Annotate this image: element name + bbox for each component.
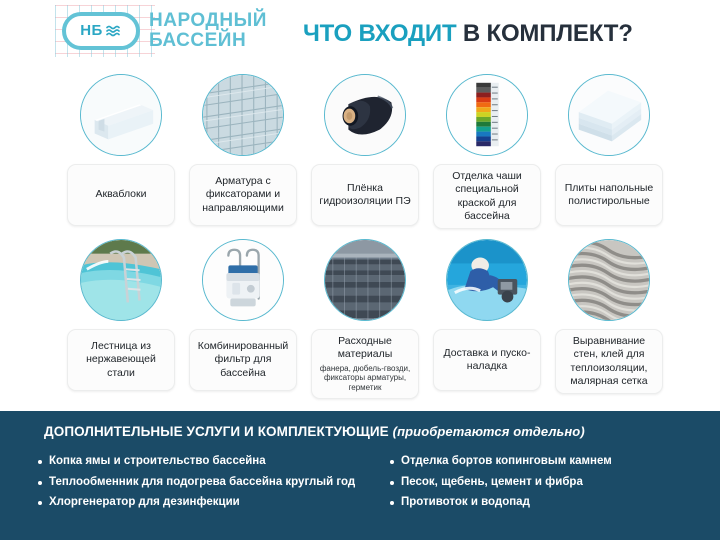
aquablock-icon: [80, 74, 162, 156]
band-column-right: Отделка бортов копинговым камнем Песок, …: [368, 456, 698, 518]
installer-icon: [446, 239, 528, 321]
materials-icon: [324, 239, 406, 321]
item-pool-paint[interactable]: Отделка чаши специальной краской для бас…: [426, 74, 548, 229]
pool-ladder-icon: [80, 239, 162, 321]
item-title: Акваблоки: [96, 188, 147, 201]
item-consumables[interactable]: Расходные материалы фанера, дюбель-гвозд…: [304, 239, 426, 399]
list-item-label: Хлоргенератор для дезинфекции: [49, 497, 240, 509]
list-item-label: Копка ямы и строительство бассейна: [49, 456, 266, 468]
item-card: Плёнка гидроизоляции ПЭ: [311, 164, 419, 226]
item-card: Лестница из нержавеющей стали: [67, 329, 175, 391]
item-title: Плиты напольные полистирольные: [560, 182, 658, 209]
film-roll-icon: [324, 74, 406, 156]
item-card: Комбинированный фильтр для бассейна: [189, 329, 297, 391]
items-row-1: Акваблоки Арматура с фиксатора: [60, 74, 670, 229]
wave-icon: [106, 24, 122, 38]
brand-logo[interactable]: НБ НАРОДНЫЙ БАССЕЙН: [62, 11, 267, 50]
item-title: Арматура с фиксаторами и направляющими: [194, 175, 292, 215]
list-item-label: Противоток и водопад: [401, 497, 530, 509]
header: НБ НАРОДНЫЙ БАССЕЙН ЧТО ВХОДИТ В КОМПЛЕК…: [0, 0, 720, 66]
brand-name-line2: БАССЕЙН: [149, 31, 267, 50]
foam-boards-icon: [568, 74, 650, 156]
item-card: Доставка и пуско-наладка: [433, 329, 541, 391]
item-aquablocks[interactable]: Акваблоки: [60, 74, 182, 229]
band-title-main: ДОПОЛНИТЕЛЬНЫЕ УСЛУГИ И КОМПЛЕКТУЮЩИЕ: [44, 424, 389, 439]
item-delivery[interactable]: Доставка и пуско-наладка: [426, 239, 548, 399]
brand-name: НАРОДНЫЙ БАССЕЙН: [149, 11, 267, 50]
list-item: Противоток и водопад: [390, 497, 698, 509]
list-item-label: Отделка бортов копинговым камнем: [401, 456, 612, 468]
item-ladder[interactable]: Лестница из нержавеющей стали: [60, 239, 182, 399]
item-wall-leveling[interactable]: Выравнивание стен, клей для теплоизоляци…: [548, 239, 670, 399]
item-title: Комбинированный фильтр для бассейна: [194, 340, 292, 380]
list-item: Отделка бортов копинговым камнем: [390, 456, 698, 468]
item-card: Выравнивание стен, клей для теплоизоляци…: [555, 329, 663, 394]
extra-services-band: ДОПОЛНИТЕЛЬНЫЕ УСЛУГИ И КОМПЛЕКТУЮЩИЕ (п…: [0, 411, 720, 540]
band-title-note: (приобретаются отдельно): [393, 424, 585, 439]
item-title: Лестница из нержавеющей стали: [72, 340, 170, 380]
items-row-2: Лестница из нержавеющей стали: [60, 239, 670, 399]
band-columns: Копка ямы и строительство бассейна Тепло…: [38, 456, 698, 518]
page-title-part2: В КОМПЛЕКТ?: [463, 20, 633, 47]
logo-letters: НБ: [80, 23, 103, 38]
item-waterproof-film[interactable]: Плёнка гидроизоляции ПЭ: [304, 74, 426, 229]
list-item: Песок, щебень, цемент и фибра: [390, 477, 698, 489]
item-title: Доставка и пуско-наладка: [438, 347, 536, 374]
list-item: Копка ямы и строительство бассейна: [38, 456, 368, 468]
item-title: Расходные материалы: [316, 335, 414, 362]
paint-swatch-icon: [446, 74, 528, 156]
band-title: ДОПОЛНИТЕЛЬНЫЕ УСЛУГИ И КОМПЛЕКТУЮЩИЕ (п…: [44, 424, 585, 439]
item-floor-boards[interactable]: Плиты напольные полистирольные: [548, 74, 670, 229]
item-rebar[interactable]: Арматура с фиксаторами и направляющими: [182, 74, 304, 229]
bullet-dot-icon: [38, 481, 42, 485]
bullet-dot-icon: [390, 481, 394, 485]
item-filter[interactable]: Комбинированный фильтр для бассейна: [182, 239, 304, 399]
logo-mark-icon: НБ: [62, 12, 140, 50]
item-title: Плёнка гидроизоляции ПЭ: [316, 182, 414, 209]
brand-name-line1: НАРОДНЫЙ: [149, 11, 267, 30]
item-subtitle: фанера, дюбель-гвозди, фиксаторы арматур…: [316, 364, 414, 393]
item-card: Плиты напольные полистирольные: [555, 164, 663, 226]
item-title: Выравнивание стен, клей для теплоизоляци…: [560, 335, 658, 388]
list-item: Хлоргенератор для дезинфекции: [38, 497, 368, 509]
list-item-label: Теплообменник для подогрева бассейна кру…: [49, 477, 355, 489]
item-card: Расходные материалы фанера, дюбель-гвозд…: [311, 329, 419, 399]
list-item-label: Песок, щебень, цемент и фибра: [401, 477, 583, 489]
pool-filter-icon: [202, 239, 284, 321]
band-column-left: Копка ямы и строительство бассейна Тепло…: [38, 456, 368, 518]
page-title: ЧТО ВХОДИТ В КОМПЛЕКТ?: [303, 20, 633, 48]
item-card: Арматура с фиксаторами и направляющими: [189, 164, 297, 226]
item-card: Акваблоки: [67, 164, 175, 226]
page-title-part1: ЧТО ВХОДИТ: [303, 20, 456, 47]
bullet-dot-icon: [390, 460, 394, 464]
bullet-dot-icon: [390, 501, 394, 505]
item-card: Отделка чаши специальной краской для бас…: [433, 164, 541, 229]
poster-root: НБ НАРОДНЫЙ БАССЕЙН ЧТО ВХОДИТ В КОМПЛЕК…: [0, 0, 720, 540]
list-item: Теплообменник для подогрева бассейна кру…: [38, 477, 368, 489]
wall-plaster-icon: [568, 239, 650, 321]
bullet-dot-icon: [38, 460, 42, 464]
rebar-mesh-icon: [202, 74, 284, 156]
bullet-dot-icon: [38, 501, 42, 505]
item-title: Отделка чаши специальной краской для бас…: [438, 170, 536, 223]
